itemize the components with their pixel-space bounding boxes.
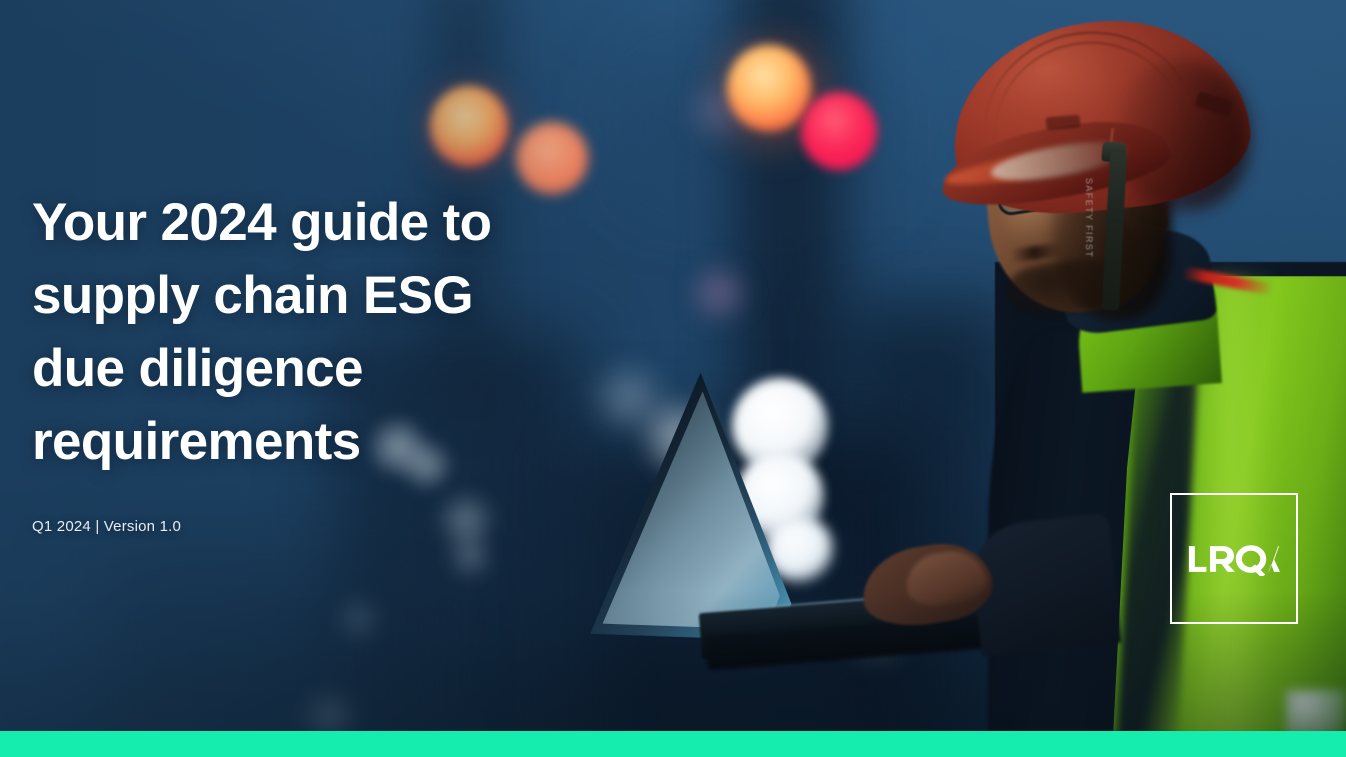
lrqa-logo[interactable] xyxy=(1170,493,1298,624)
chin-strap-text: SAFETY FIRST xyxy=(1080,178,1094,298)
page-title: Your 2024 guide to supply chain ESG due … xyxy=(32,186,632,478)
lrqa-wordmark-icon xyxy=(1188,542,1280,576)
bokeh-light-orange xyxy=(727,45,811,131)
document-meta-line: Q1 2024 | Version 1.0 xyxy=(32,518,181,535)
bokeh-light-pink xyxy=(801,92,877,170)
bokeh-light-white xyxy=(336,598,380,640)
report-cover-page: SAFETY FIRST Your 2024 guide to supply c… xyxy=(0,0,1346,757)
brand-accent-bar xyxy=(0,731,1346,757)
bokeh-light-orange xyxy=(430,86,508,166)
bokeh-light-white xyxy=(448,534,492,578)
bokeh-light-violet xyxy=(688,262,750,324)
bokeh-light-orange xyxy=(516,122,588,194)
blurred-structure xyxy=(95,560,425,757)
